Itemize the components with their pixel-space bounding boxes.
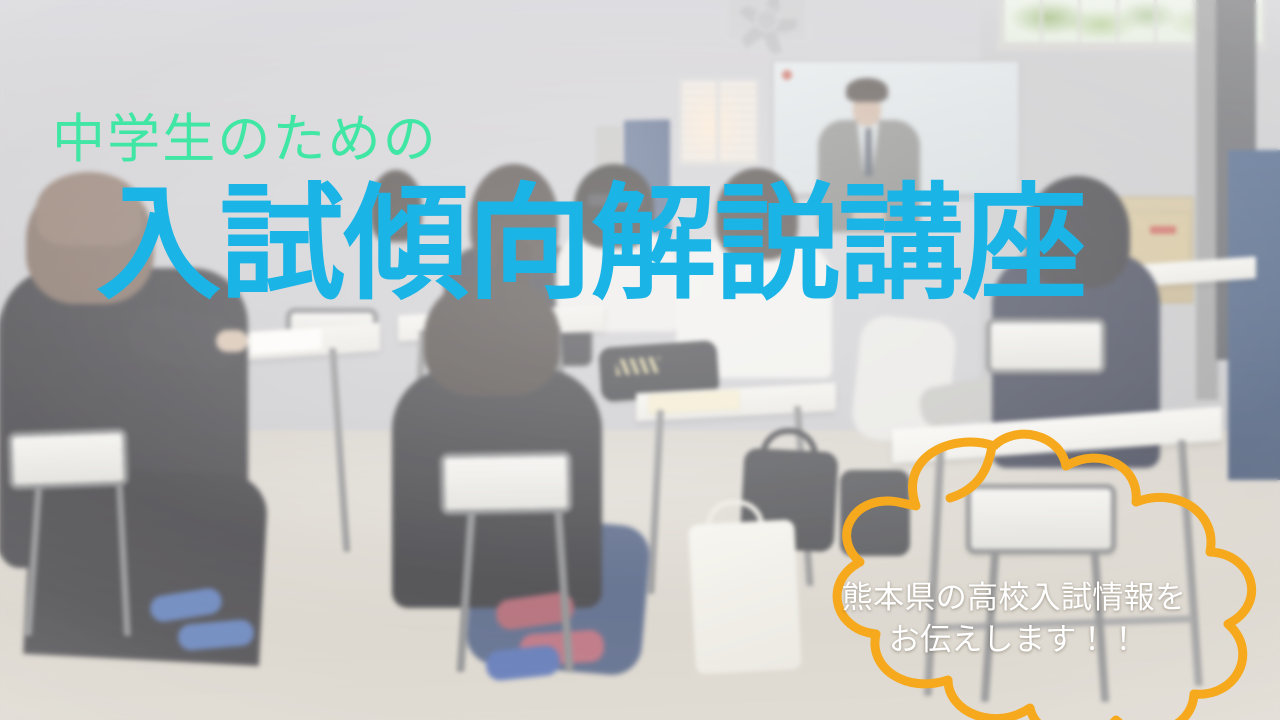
headline-text: 入試傾向解説講座 [96, 182, 1086, 307]
callout-text: 熊本県の高校入試情報を お伝えします！！ [788, 578, 1240, 661]
cloud-bubble-outline [748, 432, 1280, 720]
speech-bubble-callout: 熊本県の高校入試情報を お伝えします！！ [748, 432, 1280, 720]
thumbnail-canvas: 中学生のための 入試傾向解説講座 熊本県の高校入試情報を お伝えします！！ [0, 0, 1280, 720]
callout-line-2: お伝えします！！ [788, 620, 1240, 662]
callout-line-1: 熊本県の高校入試情報を [842, 580, 1186, 616]
kicker-text: 中学生のための [52, 112, 438, 168]
